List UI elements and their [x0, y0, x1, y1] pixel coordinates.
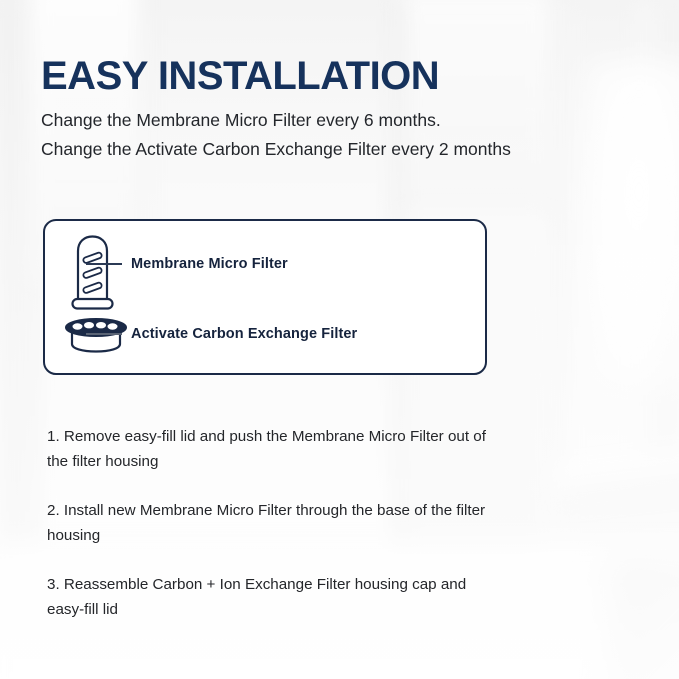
subtitle-line-2: Change the Activate Carbon Exchange Filt…: [41, 135, 511, 164]
legend-label-membrane-micro-filter: Membrane Micro Filter: [131, 256, 288, 272]
instruction-step-3: 3. Reassemble Carbon + Ion Exchange Filt…: [47, 572, 493, 622]
instruction-list: 1. Remove easy-fill lid and push the Mem…: [47, 409, 493, 622]
instruction-step-1: 1. Remove easy-fill lid and push the Mem…: [47, 424, 493, 474]
legend-row-activate-carbon-exchange-filter: Activate Carbon Exchange Filter: [86, 326, 357, 342]
membrane-micro-filter-icon: [70, 233, 126, 316]
legend-label-activate-carbon-exchange-filter: Activate Carbon Exchange Filter: [131, 326, 357, 342]
legend-row-membrane-micro-filter: Membrane Micro Filter: [86, 256, 288, 272]
page-title: EASY INSTALLATION: [41, 55, 439, 97]
leader-line-icon: [86, 263, 122, 265]
instruction-step-2: 2. Install new Membrane Micro Filter thr…: [47, 498, 493, 548]
leader-line-icon: [86, 333, 122, 335]
subtitle-line-1: Change the Membrane Micro Filter every 6…: [41, 106, 511, 135]
subtitle-block: Change the Membrane Micro Filter every 6…: [41, 106, 511, 164]
product-instruction-page: EASY INSTALLATION Change the Membrane Mi…: [0, 0, 679, 679]
